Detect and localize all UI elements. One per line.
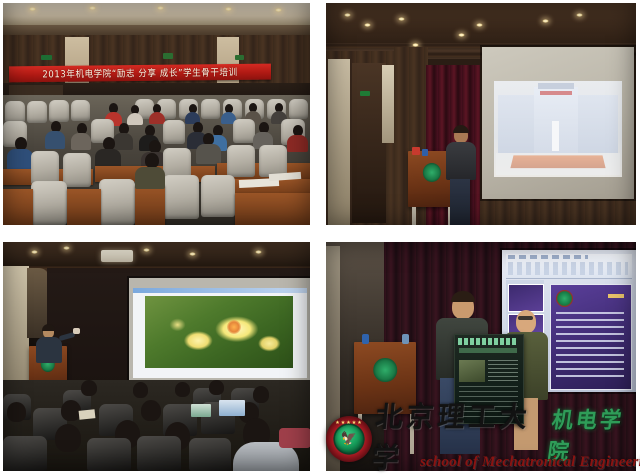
slide-title-text [608, 294, 624, 298]
seat [289, 99, 308, 119]
desk-row [235, 193, 310, 225]
exit-sign [41, 55, 52, 60]
seat [5, 101, 25, 123]
paper-sheet [79, 409, 96, 420]
ceiling-light-icon [143, 248, 150, 252]
attendee-body [71, 133, 91, 150]
seat [31, 151, 59, 185]
seat [137, 436, 181, 471]
attendee-head [145, 153, 159, 168]
bottle-icon [362, 334, 369, 344]
ceiling-light-icon [89, 6, 96, 10]
slide-building-roof [538, 83, 574, 89]
presenter-female-head [516, 310, 536, 333]
pointer-device-icon [73, 328, 80, 334]
seat [233, 119, 255, 143]
ceiling-light-icon [63, 246, 70, 250]
seat [49, 100, 69, 122]
ceiling-light-icon [275, 8, 282, 12]
ceiling-light-icon [576, 13, 583, 17]
flower-stamen [227, 320, 241, 334]
exit-sign [235, 55, 244, 60]
ceiling-light-icon [189, 252, 196, 256]
attendee-head [209, 380, 224, 395]
attendee-body [113, 133, 133, 150]
attendee-body [135, 167, 165, 189]
speaker-legs [450, 179, 470, 225]
attendee-head [253, 386, 269, 403]
desk-row [67, 189, 101, 225]
photo-bottom-left [3, 242, 310, 471]
logo-chinese-wordmark: 北京理工大学 机电学院 [374, 416, 636, 454]
ceiling-panel [3, 242, 310, 266]
ceiling-light-icon [225, 7, 232, 11]
poster-subtitle [459, 348, 517, 353]
logo-english-name: school of Mechatronical Engineering [420, 454, 640, 471]
attendee-body [7, 149, 33, 171]
attendee-body [149, 112, 165, 124]
doorway [352, 63, 386, 223]
desk-row [135, 185, 165, 225]
attendee-body [196, 144, 221, 164]
ceiling-light-icon [31, 250, 38, 254]
bottle-icon [412, 147, 420, 155]
ceiling-light-icon [344, 13, 351, 17]
poster-text-block [488, 360, 518, 382]
ppt-ribbon-tabs [508, 255, 588, 259]
eyeglasses-icon [518, 316, 533, 320]
exit-sign [360, 91, 370, 96]
attendee-body [45, 131, 65, 149]
seat [227, 145, 255, 177]
desk-row [3, 189, 33, 225]
speaker-body [446, 142, 476, 180]
seat [27, 101, 47, 123]
photo-top-right [326, 3, 636, 225]
flower-photo [145, 296, 293, 368]
slide-ground [496, 153, 620, 175]
seat [201, 175, 235, 217]
exit-sign [163, 53, 173, 59]
ppt-thumbnail [508, 284, 544, 312]
projector-icon [101, 250, 133, 262]
attendee-head [141, 400, 161, 421]
attendee-head [7, 402, 26, 422]
wall-column [328, 59, 350, 225]
bottle-icon [422, 149, 428, 156]
bottle-icon [402, 334, 409, 344]
school-logo: ★★★★★ 🦅 北京理工大学 机电学院 school of Mechatroni… [322, 412, 640, 474]
attendee-head [81, 380, 97, 396]
screen-window-titlebar [133, 288, 307, 293]
bit-emblem-icon: ★★★★★ 🦅 [326, 416, 372, 462]
poster-photo [459, 360, 485, 382]
seat [63, 153, 91, 187]
collage-canvas: 2013年机电学院“励志 分享 成长”学生骨干培训 [0, 0, 640, 474]
event-banner: 2013年机电学院“励志 分享 成长”学生骨干培训 [9, 64, 271, 83]
emblem-bird-icon: 🦅 [341, 432, 357, 445]
attendee-body [287, 135, 308, 152]
poster-title [458, 338, 518, 345]
ceiling-light-icon [542, 19, 549, 23]
ppt-ribbon-icons [508, 262, 628, 275]
speaker-body [36, 337, 62, 363]
laptop-screen [219, 400, 245, 416]
ceiling-light-icon [255, 250, 262, 254]
attendee-head [55, 424, 81, 452]
seat [87, 438, 131, 471]
seat [189, 438, 231, 471]
laptop-screen [191, 404, 211, 417]
speaker-hair [42, 324, 55, 331]
attendee-head [133, 382, 148, 398]
seat [31, 181, 67, 225]
ceiling-light-icon [398, 17, 405, 21]
seat [3, 436, 47, 471]
attendee-body [279, 428, 310, 448]
seat [163, 175, 199, 219]
seat [71, 100, 90, 121]
slide-flag-pole [552, 121, 559, 151]
event-banner-text: 2013年机电学院“励志 分享 成长”学生骨干培训 [42, 65, 237, 80]
photo-top-left: 2013年机电学院“励志 分享 成长”学生骨干培训 [3, 3, 310, 225]
ceiling-light-icon [157, 6, 164, 10]
slide-emblem-icon [556, 290, 573, 307]
ceiling-light-icon [29, 7, 36, 11]
ceiling-light-icon [458, 33, 465, 37]
seat [99, 179, 135, 225]
attendee-body [127, 113, 143, 125]
seat [201, 99, 220, 119]
ceiling-light-icon [364, 23, 371, 27]
ceiling-beam [3, 25, 310, 35]
seat [163, 120, 185, 144]
podium-leg [412, 207, 416, 225]
ceiling-light-icon [476, 23, 483, 27]
attendee-head [175, 382, 190, 397]
slide-bullets [556, 312, 624, 382]
slide-building-banner [540, 91, 572, 95]
